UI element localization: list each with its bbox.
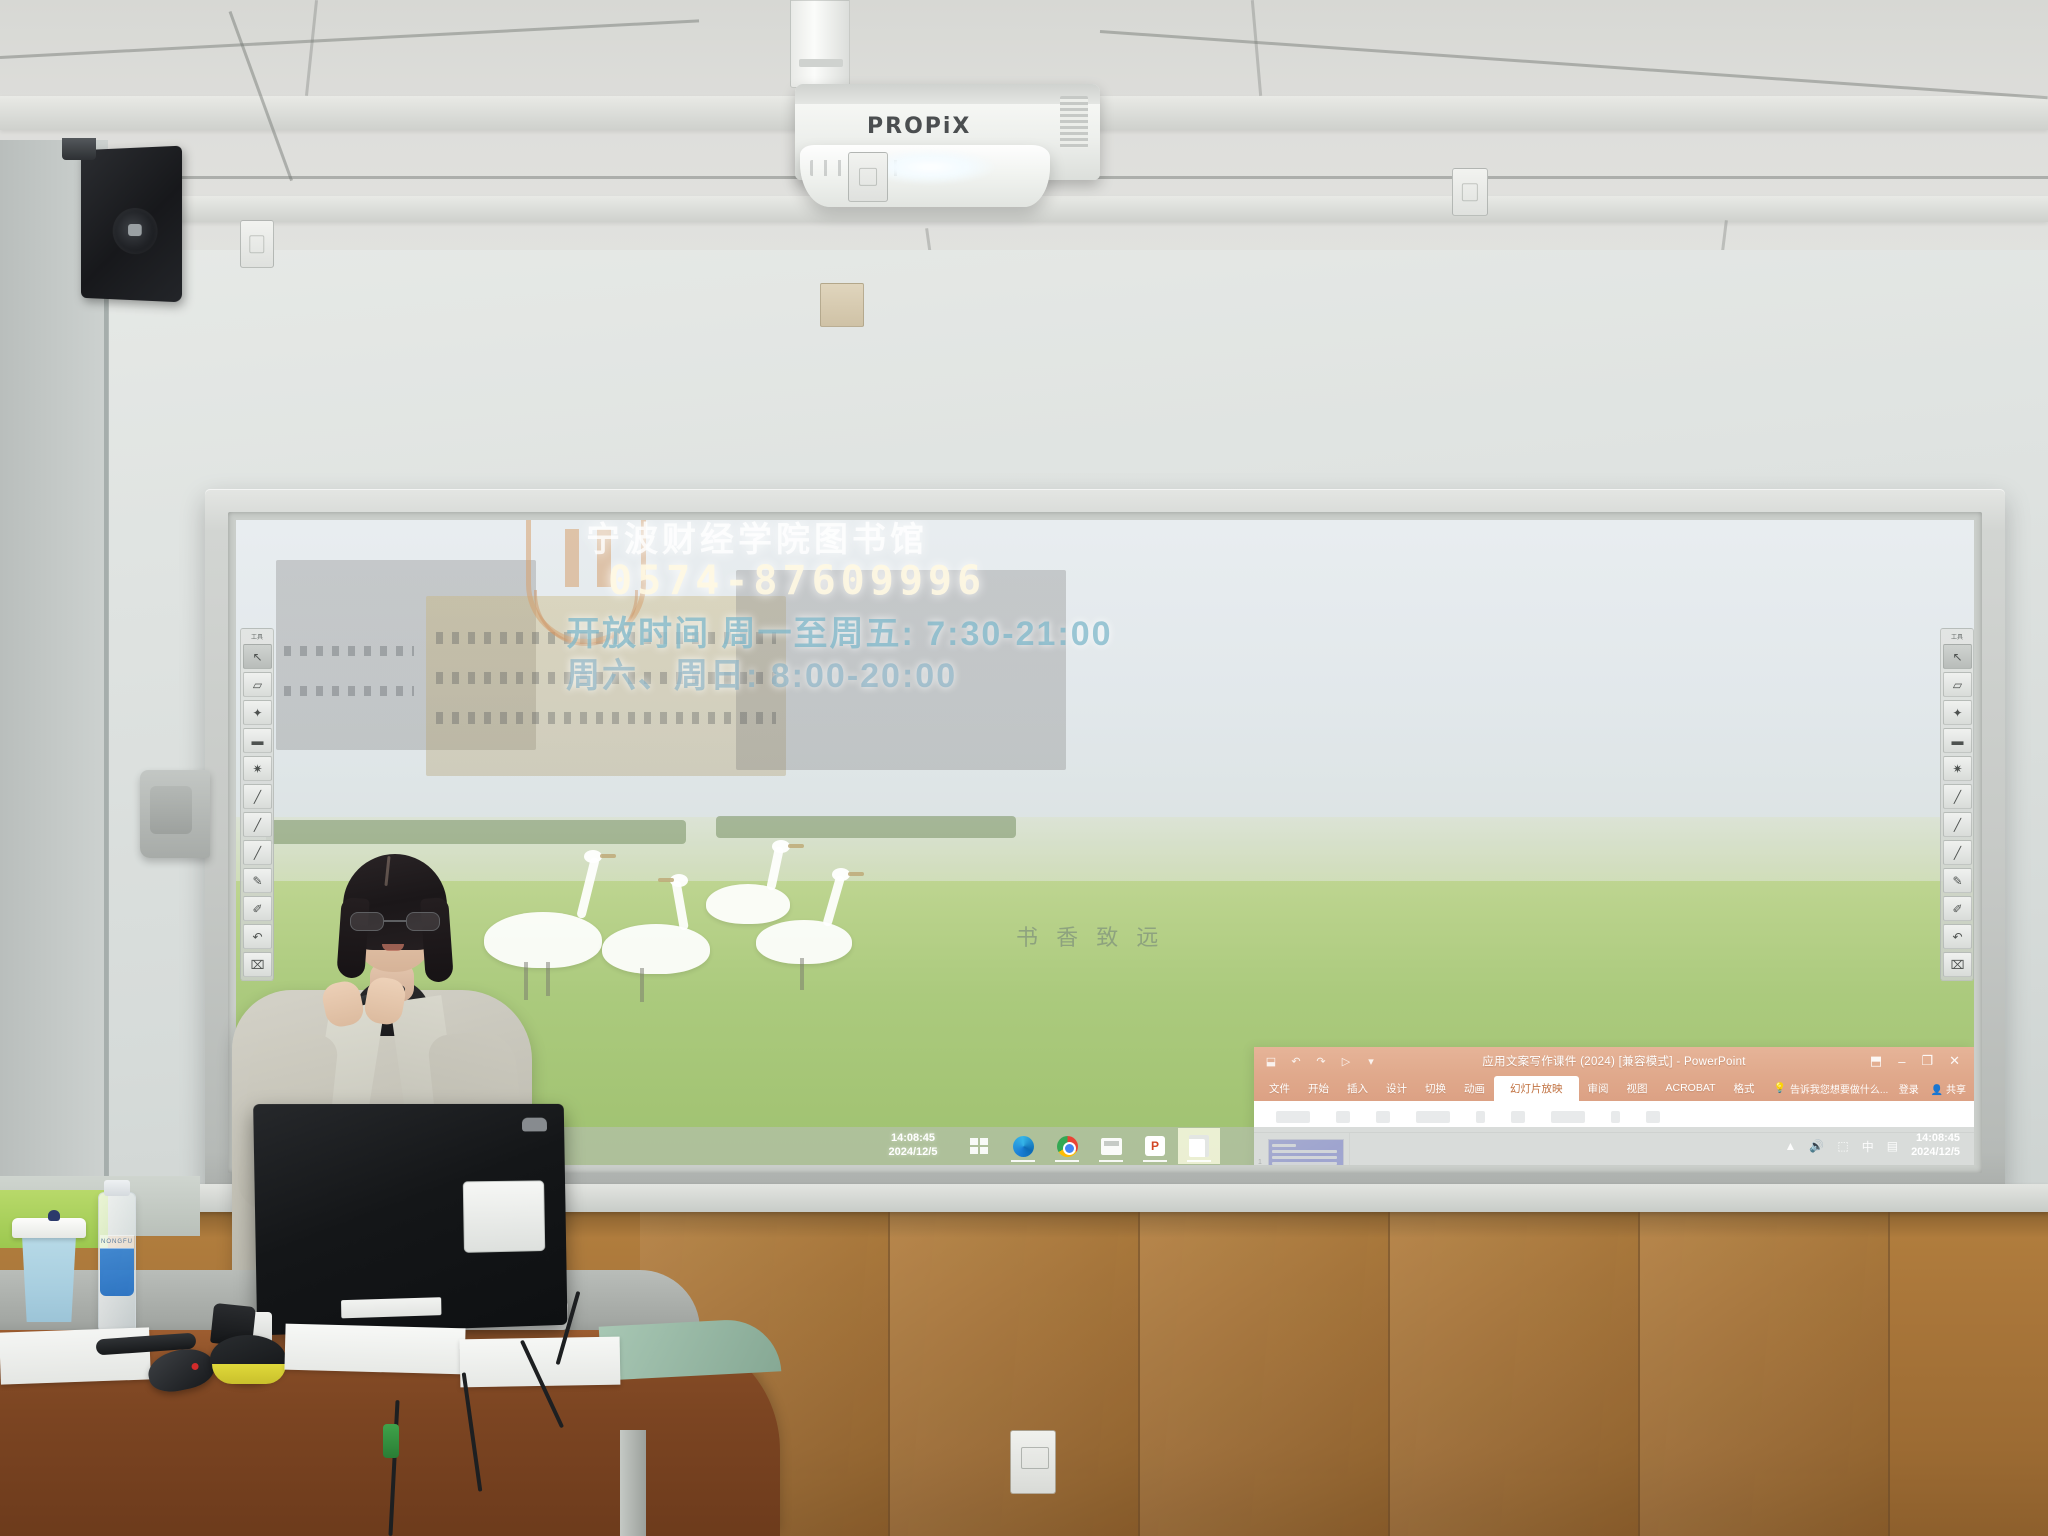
highlighter-icon: ▬ — [252, 735, 264, 747]
pen-thin-tool[interactable]: ╱ — [243, 784, 272, 809]
close-button[interactable]: ✕ — [1949, 1053, 1960, 1069]
speaker-cone-icon — [113, 208, 158, 255]
ime-indicator[interactable]: 中 — [1862, 1138, 1874, 1155]
presenter-hair — [343, 854, 447, 950]
pointer-tool[interactable]: ✷ — [243, 756, 272, 781]
projector-top-strip — [795, 84, 1100, 104]
cabinet-door[interactable] — [1390, 1212, 1640, 1536]
cabinet-door[interactable] — [1640, 1212, 1890, 1536]
ceiling-seam — [1100, 30, 2048, 99]
projected-clock: 14:08:45 2024/12/5 — [876, 1132, 950, 1160]
ceiling-panel-line — [305, 0, 318, 96]
network-icon[interactable]: ⬚ — [1837, 1139, 1848, 1153]
tray-clock-time: 14:08:45 — [1911, 1132, 1960, 1146]
windows-icon — [970, 1138, 988, 1154]
wall-outlet[interactable] — [1452, 168, 1488, 216]
taskbar-app-list: P — [958, 1128, 1220, 1164]
tab-home[interactable]: 开始 — [1299, 1076, 1338, 1101]
cursor-icon: ↖ — [252, 651, 262, 663]
tab-insert[interactable]: 插入 — [1338, 1076, 1377, 1101]
tab-acrobat[interactable]: ACROBAT — [1657, 1077, 1725, 1099]
brush-tool[interactable]: ✐ — [1943, 896, 1972, 921]
clock-time: 14:08:45 — [876, 1132, 950, 1146]
bottle-liquid — [100, 1248, 134, 1296]
presenter-glasses-icon — [350, 912, 440, 932]
spotlight-icon: ✦ — [1952, 707, 1962, 719]
ribbon-command-icon[interactable] — [1276, 1111, 1310, 1123]
wall-corner — [104, 150, 109, 1310]
tab-format[interactable]: 格式 — [1724, 1076, 1763, 1101]
pen-medium-tool[interactable]: ╱ — [1943, 812, 1972, 837]
crane-leg — [546, 962, 550, 996]
headphone-band — [212, 1364, 286, 1384]
desk-leg — [620, 1430, 646, 1536]
quick-access-toolbar: ⬓ ↶ ↷ ▷ ▾ — [1254, 1055, 1378, 1068]
pen-medium-icon: ╱ — [1954, 819, 1961, 831]
pen-thick-tool[interactable]: ╱ — [1943, 840, 1972, 865]
pointer-icon: ✷ — [252, 763, 262, 775]
highlighter-tool[interactable]: ▬ — [243, 728, 272, 753]
spotlight-tool[interactable]: ✦ — [243, 700, 272, 725]
taskbar-app-notes[interactable] — [1178, 1128, 1220, 1164]
ribbon-command-icon[interactable] — [1376, 1111, 1390, 1123]
clock-date: 2024/12/5 — [876, 1146, 950, 1160]
start-button[interactable] — [958, 1128, 1000, 1164]
taskbar-app-chrome[interactable] — [1046, 1128, 1088, 1164]
undo-tool[interactable]: ↶ — [1943, 924, 1972, 949]
wallpaper-org-title: 宁波财经学院图书馆 — [586, 520, 1226, 561]
pen-thin-icon: ╱ — [1954, 791, 1961, 803]
select-tool[interactable]: ↖ — [243, 644, 272, 669]
crane-beak — [848, 872, 864, 876]
chrome-icon — [1057, 1136, 1078, 1157]
taskbar-app-powerpoint[interactable]: P — [1134, 1128, 1176, 1164]
ribbon-command-icon[interactable] — [1511, 1111, 1525, 1123]
taskbar-app-file-explorer[interactable] — [1090, 1128, 1132, 1164]
select-tool[interactable]: ↖ — [1943, 644, 1972, 669]
wallpaper-phone-number: 0574-87609996 — [608, 558, 1228, 604]
pen-toolbar-title: 工具 — [243, 632, 271, 641]
account-area: 登录 👤 共享 — [1899, 1075, 1966, 1101]
crane-beak — [600, 854, 616, 858]
cursor-icon: ↖ — [1952, 651, 1962, 663]
pointer-tool[interactable]: ✷ — [1943, 756, 1972, 781]
tell-me-box[interactable]: 💡 告诉我您想要做什么... — [1773, 1081, 1888, 1096]
pen-medium-tool[interactable]: ╱ — [243, 812, 272, 837]
ceiling-panel-line — [1251, 0, 1262, 96]
eraser-tool[interactable]: ▱ — [1943, 672, 1972, 697]
note-icon — [1189, 1135, 1209, 1157]
whiteboard-pen-toolbar-right[interactable]: 工具 ↖ ▱ ✦ ▬ ✷ ╱ ╱ ╱ ✎ ✐ ↶ ⌧ — [1940, 628, 1974, 981]
ribbon-command-icon[interactable] — [1551, 1111, 1585, 1123]
computer-monitor — [253, 1104, 567, 1336]
paper-cup-tab — [48, 1210, 60, 1221]
person-icon: 👤 — [1931, 1085, 1943, 1096]
volume-icon[interactable]: 🔊 — [1809, 1139, 1824, 1153]
pen-toolbar-title: 工具 — [1943, 632, 1971, 641]
highlighter-icon: ▬ — [1952, 735, 1964, 747]
show-hidden-icons-icon[interactable]: ▲ — [1785, 1139, 1797, 1153]
paper-cup — [18, 1230, 80, 1322]
minimize-button[interactable]: – — [1898, 1054, 1905, 1069]
crane-leg — [640, 968, 644, 1002]
restore-button[interactable]: ❐ — [1921, 1053, 1933, 1069]
monitor-spec-label — [341, 1297, 441, 1318]
wallpaper-hedge — [716, 816, 1016, 838]
bottle-label: NONGFU — [100, 1235, 134, 1249]
clear-tool[interactable]: ⌧ — [1943, 952, 1972, 977]
tab-transitions[interactable]: 切换 — [1416, 1076, 1455, 1101]
side-wall — [0, 140, 108, 1300]
pen-medium-icon: ╱ — [254, 819, 261, 831]
spotlight-icon: ✦ — [252, 707, 262, 719]
marker-tool[interactable]: ✎ — [1943, 868, 1972, 893]
wall-speaker — [81, 146, 182, 303]
system-tray: ▲ 🔊 ⬚ 中 ▤ 14:08:45 2024/12/5 — [1785, 1132, 1974, 1160]
tell-me-placeholder: 告诉我您想要做什么... — [1790, 1081, 1888, 1096]
ribbon-command-icon[interactable] — [1611, 1111, 1620, 1123]
taskbar-app-edge[interactable] — [1002, 1128, 1044, 1164]
wallpaper-window-row — [436, 712, 776, 724]
battery-icon[interactable]: ▤ — [1887, 1139, 1898, 1153]
ribbon-command-icon[interactable] — [1646, 1111, 1660, 1123]
powerpoint-icon: P — [1145, 1136, 1165, 1156]
edge-icon — [1013, 1136, 1034, 1157]
green-marker-pen[interactable] — [383, 1424, 399, 1458]
cabinet-door[interactable] — [1140, 1212, 1390, 1536]
presenter-mouth — [382, 944, 404, 951]
marker-icon: ✎ — [1952, 875, 1962, 887]
floor-outlet[interactable] — [1010, 1430, 1056, 1494]
wallpaper-hours-weekend: 周六、周日: 8:00-20:00 — [566, 648, 1266, 697]
pen-thick-icon: ╱ — [1954, 847, 1961, 859]
tab-review[interactable]: 审阅 — [1579, 1076, 1618, 1101]
projector-mount — [790, 0, 850, 88]
desk-right-edge — [599, 1317, 782, 1380]
ceiling-seam — [0, 19, 699, 59]
brush-icon: ✐ — [1952, 903, 1962, 915]
window-controls: ⬒ – ❐ ✕ — [1870, 1047, 1968, 1075]
undo-icon[interactable]: ↶ — [1289, 1055, 1303, 1068]
glasses-bridge — [384, 920, 406, 922]
ribbon-command-icon[interactable] — [1336, 1111, 1350, 1123]
pointer-icon: ✷ — [1952, 763, 1962, 775]
tab-animations[interactable]: 动画 — [1455, 1076, 1494, 1101]
whiteboard-pen-tray[interactable] — [140, 770, 210, 858]
pen-thin-icon: ╱ — [254, 791, 261, 803]
documents — [0, 1327, 151, 1384]
wall-junction-box — [820, 283, 864, 327]
bottle-cap — [104, 1180, 130, 1196]
ribbon-command-icon[interactable] — [1416, 1111, 1450, 1123]
eraser-tool[interactable]: ▱ — [243, 672, 272, 697]
undo-icon: ↶ — [1952, 931, 1962, 943]
pen-thin-tool[interactable]: ╱ — [1943, 784, 1972, 809]
classroom-scene: PROPiX Bemita 宁波财经学院图书馆 0 — [0, 0, 2048, 1536]
wall-outlet[interactable] — [240, 220, 274, 268]
wallpaper-caption: 书 香 致 远 — [1016, 920, 1164, 952]
glasses-lens — [350, 912, 384, 931]
redo-icon[interactable]: ↷ — [1314, 1055, 1328, 1068]
tab-view[interactable]: 视图 — [1618, 1076, 1657, 1101]
tab-design[interactable]: 设计 — [1377, 1076, 1416, 1101]
glasses-lens — [406, 912, 440, 931]
wallpaper-crane-bird — [706, 884, 790, 924]
projector-brand-label: PROPiX — [867, 114, 971, 139]
ribbon-tab-bar: 文件 开始 插入 设计 切换 动画 幻灯片放映 审阅 视图 ACROBAT 格式… — [1254, 1075, 1974, 1101]
crane-beak — [658, 878, 674, 882]
tray-clock-date: 2024/12/5 — [1911, 1146, 1960, 1160]
share-button[interactable]: 👤 共享 — [1931, 1081, 1966, 1096]
wallpaper-window-row — [284, 686, 414, 696]
folder-icon — [1101, 1138, 1122, 1155]
wallpaper-crane-bird — [602, 924, 710, 974]
monitor-brand-logo-icon — [522, 1118, 547, 1132]
save-icon[interactable]: ⬓ — [1264, 1055, 1278, 1068]
crane-leg — [800, 958, 804, 990]
lightbulb-icon: 💡 — [1773, 1083, 1785, 1094]
wall-outlet[interactable] — [848, 152, 888, 202]
sign-in-link[interactable]: 登录 — [1899, 1081, 1919, 1096]
customize-qat-icon[interactable]: ▾ — [1364, 1055, 1378, 1068]
paper-cup-lid — [12, 1218, 86, 1238]
ribbon-command-icon[interactable] — [1476, 1111, 1485, 1123]
tab-slide-show[interactable]: 幻灯片放映 — [1494, 1076, 1579, 1101]
eraser-icon: ▱ — [253, 679, 262, 691]
clear-icon: ⌧ — [1951, 959, 1965, 971]
ribbon-display-options-icon[interactable]: ⬒ — [1870, 1053, 1882, 1069]
documents — [284, 1324, 465, 1375]
ribbon-tabs: 文件 开始 插入 设计 切换 动画 幻灯片放映 审阅 视图 ACROBAT 格式 — [1254, 1076, 1763, 1101]
powerpoint-title-bar: ⬓ ↶ ↷ ▷ ▾ 应用文案写作课件 (2024) [兼容模式] - Power… — [1254, 1047, 1974, 1075]
tray-clock[interactable]: 14:08:45 2024/12/5 — [1911, 1132, 1966, 1160]
wallpaper-window-row — [284, 646, 414, 656]
spotlight-tool[interactable]: ✦ — [1943, 700, 1972, 725]
highlighter-tool[interactable]: ▬ — [1943, 728, 1972, 753]
tab-file[interactable]: 文件 — [1260, 1076, 1299, 1101]
monitor-vesa-plate — [463, 1180, 545, 1252]
share-label: 共享 — [1946, 1085, 1966, 1096]
crane-beak — [788, 844, 804, 848]
eraser-icon: ▱ — [1953, 679, 1962, 691]
wallpaper-crane-bird — [756, 920, 852, 964]
speaker-bracket — [62, 138, 96, 160]
start-slideshow-icon[interactable]: ▷ — [1339, 1055, 1353, 1068]
projector-vent — [1060, 96, 1088, 148]
